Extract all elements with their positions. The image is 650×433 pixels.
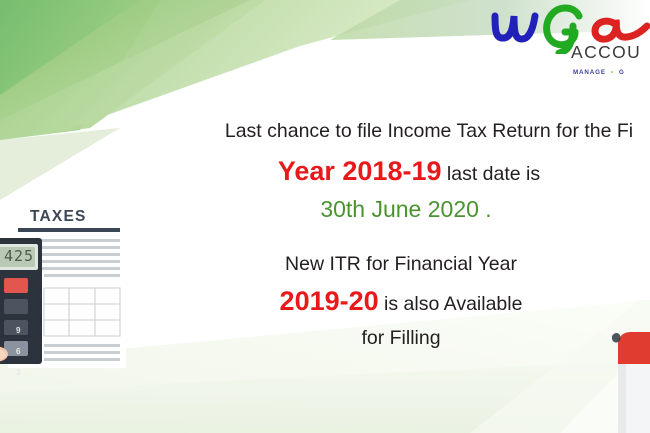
message-line-1: Last chance to file Income Tax Return fo… [208,122,650,142]
promotional-banner: ACCOU MANAGE•G [0,0,650,433]
logo-tagline: MANAGE•G [573,70,625,76]
message-line-5-rest: is also Available [379,293,523,315]
calculator-key-label-9: 9 [16,327,20,335]
logo-letter-u [495,16,535,39]
logo-wordmark: ACCOU [571,44,641,62]
message-line-4: New ITR for Financial Year [152,255,650,275]
message-line-5: 2019-20 is also Available [152,288,650,315]
message-line-2: Year 2018-19 last date is [168,158,650,185]
calculator-display-value: 425 [4,249,34,264]
message-line-2-rest: last date is [442,163,541,185]
tax-form-title: TAXES [30,209,87,225]
calculator-key-label-3: 3 [16,369,20,377]
logo-letter-a [595,20,647,39]
logo-tagline-separator: • [611,69,614,76]
company-logo: ACCOU MANAGE•G [487,2,650,86]
logo-tagline-second: G [619,69,625,76]
deadline-date: 30th June 2020 . [162,198,650,221]
calculator-key-label-6: 6 [16,348,20,356]
calculator-key-plus [4,278,28,293]
financial-year-2019-20: 2019-20 [280,286,379,316]
financial-year-2018-19: Year 2018-19 [278,156,442,186]
message-line-6: for Filling [152,329,650,349]
promo-message: Last chance to file Income Tax Return fo… [150,122,650,349]
calculator-key-minus [4,299,28,314]
tax-form-calculator-illustration: TAXES 425 9 6 3 [0,196,136,382]
logo-tagline-first: MANAGE [573,69,606,76]
